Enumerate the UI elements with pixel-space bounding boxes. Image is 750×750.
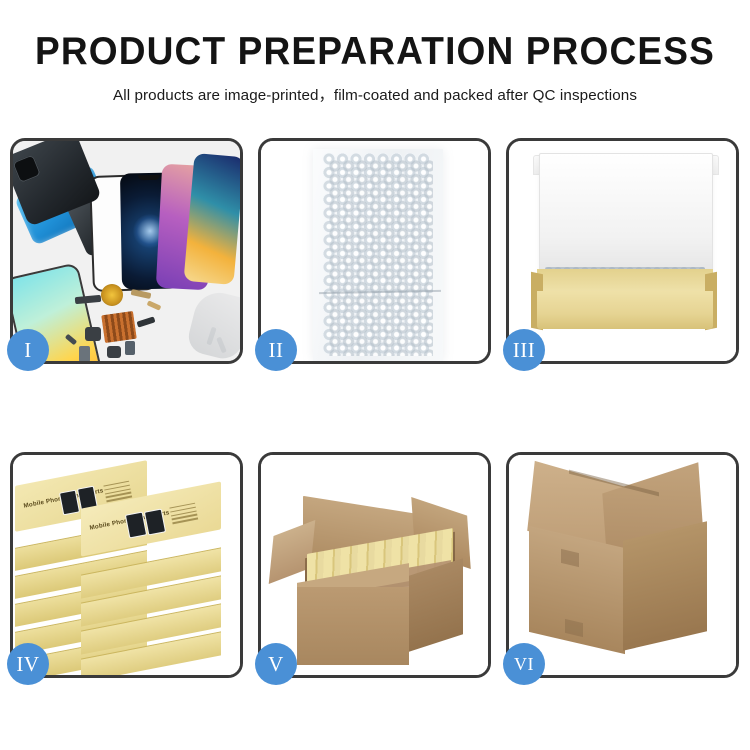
step-panel-4: Mobile Phone Spare Parts Mobile Phone Sp… [10, 452, 243, 678]
step-image-3 [509, 141, 736, 361]
part-icon [137, 316, 156, 327]
part-icon [147, 300, 162, 310]
step-panel-3: III [506, 138, 739, 364]
page-subtitle: All products are image-printed，film-coat… [0, 71, 750, 105]
sealed-carton-image [509, 455, 736, 675]
box-front-panel [537, 291, 713, 329]
stacked-retail-boxes-image: Mobile Phone Spare Parts Mobile Phone Sp… [13, 455, 240, 675]
step-panel-1: I [10, 138, 243, 364]
step-image-6 [509, 455, 736, 675]
chip-grid-icon [101, 311, 137, 343]
step-badge-1: I [7, 329, 49, 371]
step-image-1 [13, 141, 240, 361]
phone-notch-icon [138, 175, 160, 180]
bubble-wrap-image [261, 141, 488, 361]
speaker-coil-icon [101, 284, 123, 306]
step-badge-3: III [503, 329, 545, 371]
step-badge-4: IV [7, 643, 49, 685]
hand-icon [185, 287, 240, 361]
step-panel-2: II [258, 138, 491, 364]
step-image-4: Mobile Phone Spare Parts Mobile Phone Sp… [13, 455, 240, 675]
phone-parts-collage-image [13, 141, 240, 361]
part-icon [107, 346, 121, 358]
part-icon [131, 289, 152, 299]
part-icon [75, 295, 102, 304]
step-panel-5: V [258, 452, 491, 678]
carton-side-panel [409, 558, 463, 652]
teal-phone-icon [184, 153, 240, 285]
carton-right-face [623, 521, 707, 650]
box-tray-top-edge [537, 269, 713, 293]
step-badge-6: VI [503, 643, 545, 685]
part-icon [85, 327, 101, 341]
product-preparation-infographic: PRODUCT PREPARATION PROCESS All products… [0, 0, 750, 750]
step-image-2 [261, 141, 488, 361]
step-panel-6: VI [506, 452, 739, 678]
steps-grid: I II [10, 138, 740, 678]
step-badge-5: V [255, 643, 297, 685]
part-icon [79, 346, 90, 361]
bubble-pattern-overlay [329, 160, 433, 356]
open-carton-image [261, 455, 488, 675]
step-image-5 [261, 455, 488, 675]
part-icon [125, 341, 135, 355]
box-white-liner [539, 153, 713, 273]
page-title: PRODUCT PREPARATION PROCESS [19, 0, 732, 71]
carton-front-panel [297, 587, 409, 665]
header: PRODUCT PREPARATION PROCESS All products… [0, 0, 750, 105]
step-badge-2: II [255, 329, 297, 371]
open-mailer-box-image [509, 141, 736, 361]
